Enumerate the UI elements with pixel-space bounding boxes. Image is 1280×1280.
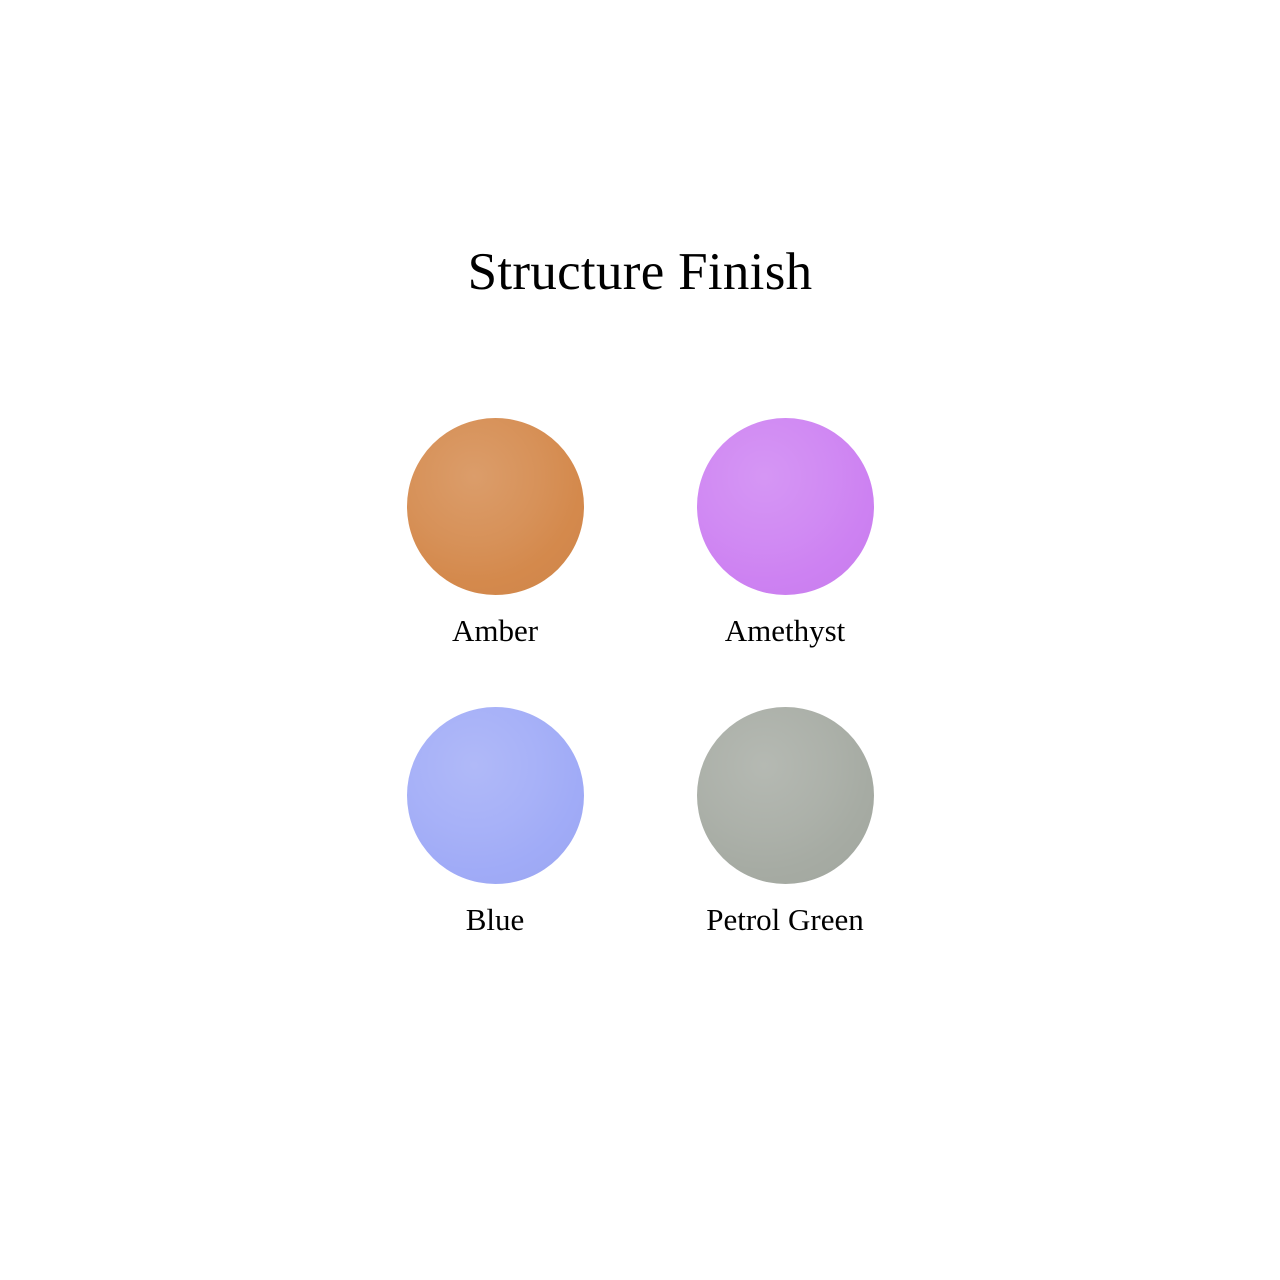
swatch-row: Blue Petrol Green bbox=[350, 707, 930, 938]
swatch-item-amber[interactable]: Amber bbox=[350, 418, 640, 649]
swatch-label-amethyst: Amethyst bbox=[725, 612, 846, 649]
color-swatch-circle-blue[interactable] bbox=[407, 707, 584, 884]
swatch-grid: Amber Amethyst Blue Petrol Green bbox=[350, 418, 930, 938]
color-swatch-circle-amethyst[interactable] bbox=[697, 418, 874, 595]
color-swatch-page: Structure Finish Amber Amethyst Blue Pet… bbox=[0, 0, 1280, 1280]
swatch-label-amber: Amber bbox=[452, 612, 538, 649]
swatch-item-blue[interactable]: Blue bbox=[350, 707, 640, 938]
swatch-label-petrol-green: Petrol Green bbox=[706, 901, 864, 938]
color-swatch-circle-petrol-green[interactable] bbox=[697, 707, 874, 884]
page-title: Structure Finish bbox=[0, 243, 1280, 302]
swatch-label-blue: Blue bbox=[466, 901, 525, 938]
swatch-item-petrol-green[interactable]: Petrol Green bbox=[640, 707, 930, 938]
swatch-item-amethyst[interactable]: Amethyst bbox=[640, 418, 930, 649]
color-swatch-circle-amber[interactable] bbox=[407, 418, 584, 595]
swatch-row: Amber Amethyst bbox=[350, 418, 930, 649]
